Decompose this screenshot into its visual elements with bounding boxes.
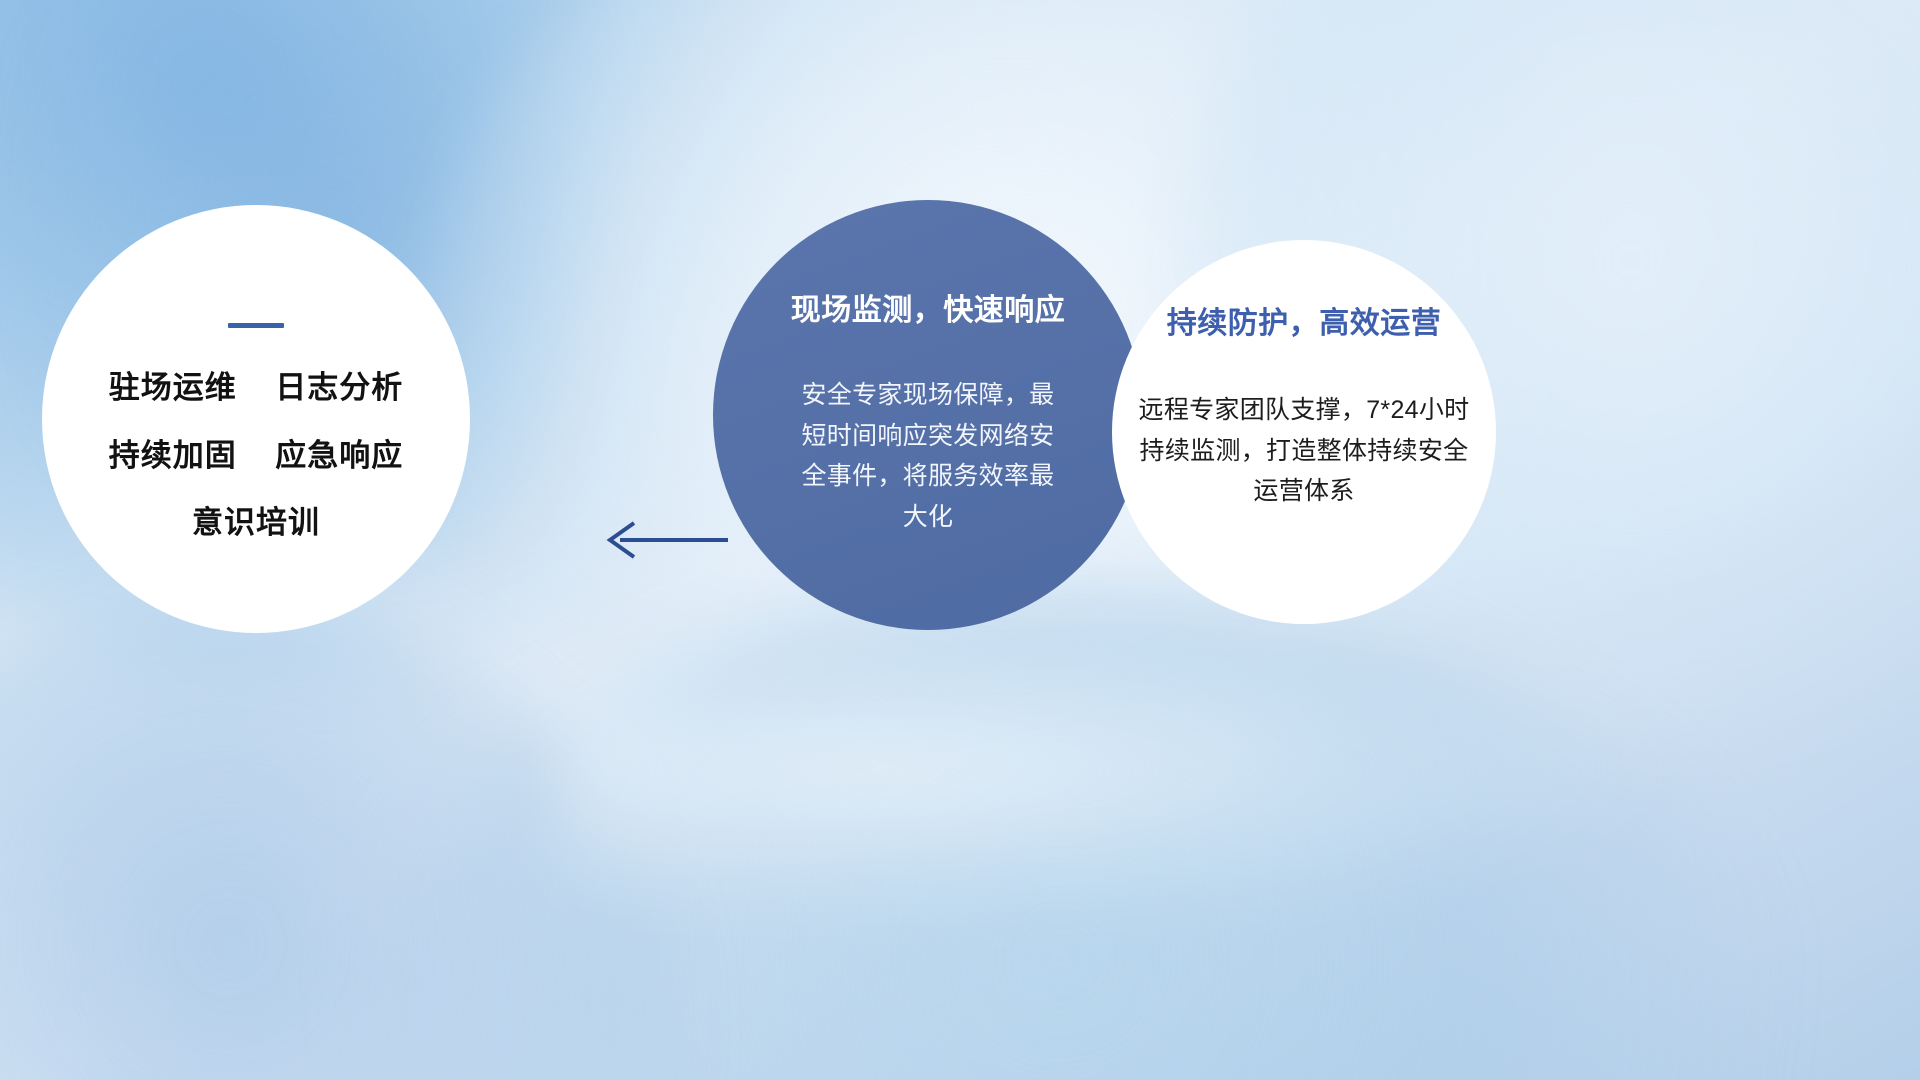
capabilities-content: 驻场运维 日志分析 持续加固 应急响应 意识培训	[42, 205, 470, 633]
continuous-title: 持续防护，高效运营	[1167, 298, 1442, 342]
onsite-title: 现场监测，快速响应	[791, 285, 1066, 329]
service-circle-continuous[interactable]: 持续防护，高效运营 远程专家团队支撑，7*24小时持续监测，打造整体持续安全运营…	[1112, 240, 1496, 624]
slide-canvas: 驻场运维 日志分析 持续加固 应急响应 意识培训 现场监测，快速响应 安全专家现…	[0, 0, 1920, 1080]
capability-line-3: 意识培训	[192, 507, 320, 540]
flow-arrow	[590, 515, 730, 565]
divider-dash-icon	[228, 323, 284, 328]
onsite-content: 现场监测，快速响应 安全专家现场保障，最短时间响应突发网络安全事件，将服务效率最…	[713, 200, 1143, 630]
background-highlight-streak	[560, 620, 1660, 920]
continuous-description: 远程专家团队支撑，7*24小时持续监测，打造整体持续安全运营体系	[1128, 390, 1480, 512]
continuous-content: 持续防护，高效运营 远程专家团队支撑，7*24小时持续监测，打造整体持续安全运营…	[1112, 240, 1496, 624]
service-circle-capabilities[interactable]: 驻场运维 日志分析 持续加固 应急响应 意识培训	[42, 205, 470, 633]
capability-line-1: 驻场运维 日志分析	[109, 372, 403, 405]
onsite-description: 安全专家现场保障，最短时间响应突发网络安全事件，将服务效率最大化	[797, 375, 1059, 537]
service-circle-onsite[interactable]: 现场监测，快速响应 安全专家现场保障，最短时间响应突发网络安全事件，将服务效率最…	[713, 200, 1143, 630]
capability-line-2: 持续加固 应急响应	[109, 440, 403, 473]
